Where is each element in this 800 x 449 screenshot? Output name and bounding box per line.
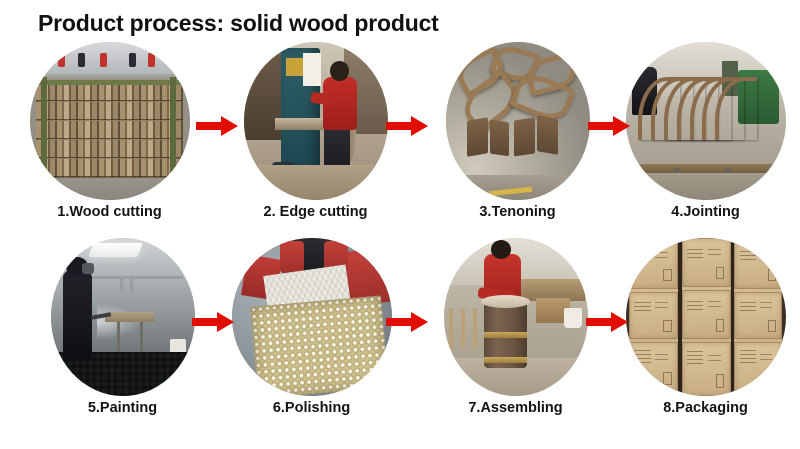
- step-7-image: [444, 238, 588, 396]
- step-3-label: 3.Tenoning: [430, 204, 605, 220]
- product-process-infographic: Product process: solid wood product: [0, 0, 800, 449]
- right-arrow-icon: [586, 312, 628, 332]
- process-step-4[interactable]: 4.Jointing: [618, 42, 793, 242]
- process-row-1: 1.Wood cutting: [0, 42, 800, 242]
- right-arrow-icon: [386, 312, 428, 332]
- scene-packaging: [626, 238, 786, 396]
- process-row-2: 5.Painting 6.Polishing: [0, 238, 800, 438]
- step-2-image: [244, 42, 388, 200]
- scene-tenoning: [446, 42, 590, 200]
- scene-edge-cutting: [244, 42, 388, 200]
- scene-wood-cutting: [30, 42, 190, 200]
- process-step-1[interactable]: 1.Wood cutting: [22, 42, 197, 242]
- step-5-image: [51, 238, 195, 396]
- right-arrow-icon: [588, 116, 630, 136]
- process-step-8[interactable]: 8.Packaging: [618, 238, 793, 438]
- process-step-2[interactable]: 2. Edge cutting: [228, 42, 403, 242]
- process-step-6[interactable]: 6.Polishing: [224, 238, 399, 438]
- step-8-image: [626, 238, 786, 396]
- scene-painting: [51, 238, 195, 396]
- step-4-label: 4.Jointing: [618, 204, 793, 220]
- step-1-image: [30, 42, 190, 200]
- step-2-label: 2. Edge cutting: [228, 204, 403, 220]
- process-step-7[interactable]: 7.Assembling: [428, 238, 603, 438]
- process-step-3[interactable]: 3.Tenoning: [430, 42, 605, 242]
- scene-assembling: [444, 238, 588, 396]
- process-step-5[interactable]: 5.Painting: [35, 238, 210, 438]
- right-arrow-icon: [386, 116, 428, 136]
- step-5-label: 5.Painting: [35, 400, 210, 416]
- step-1-label: 1.Wood cutting: [22, 204, 197, 220]
- step-4-image: [626, 42, 786, 200]
- step-8-label: 8.Packaging: [618, 400, 793, 416]
- right-arrow-icon: [192, 312, 234, 332]
- step-7-label: 7.Assembling: [428, 400, 603, 416]
- step-3-image: [446, 42, 590, 200]
- step-6-label: 6.Polishing: [224, 400, 399, 416]
- scene-polishing: [232, 238, 392, 396]
- scene-jointing: [626, 42, 786, 200]
- step-6-image: [232, 238, 392, 396]
- right-arrow-icon: [196, 116, 238, 136]
- page-title: Product process: solid wood product: [38, 10, 439, 37]
